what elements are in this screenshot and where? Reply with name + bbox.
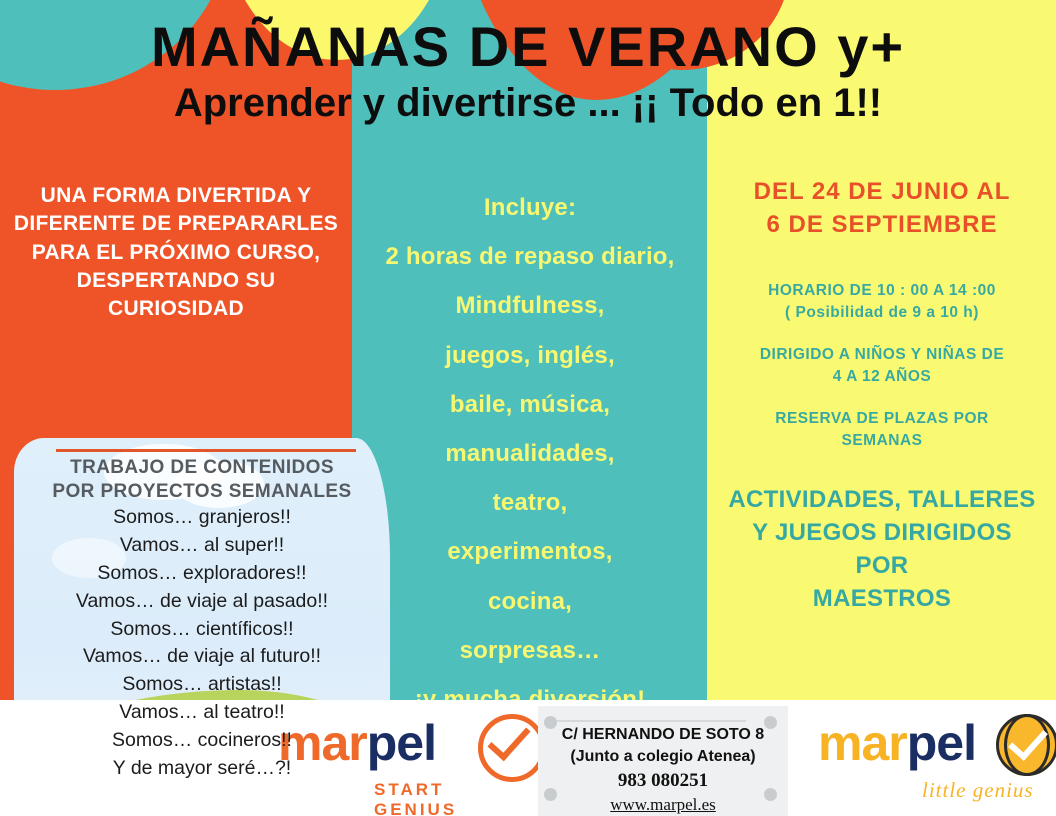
staff-line-1: ACTIVIDADES, TALLERES [712, 483, 1052, 516]
schedule-hours-line-2: ( Posibilidad de 9 a 10 h) [712, 302, 1052, 324]
schedule-booking: RESERVA DE PLAZAS POR SEMANAS [712, 408, 1052, 453]
logo-tagline: START GENIUS [374, 780, 528, 816]
list-item: cocina, [356, 577, 704, 626]
includes-heading: Incluye: [356, 183, 704, 232]
address-card: C/ HERNANDO DE SOTO 8 (Junto a colegio A… [538, 706, 788, 816]
address-near: (Junto a colegio Atenea) [538, 746, 788, 768]
staff-line-4: MAESTROS [712, 582, 1052, 615]
logo-word-pel: pel [907, 715, 976, 771]
list-item: 2 horas de repaso diario, [356, 232, 704, 281]
includes-list: Incluye: 2 horas de repaso diario, Mindf… [356, 183, 704, 724]
projects-title-line-1: TRABAJO DE CONTENIDOS [14, 456, 390, 480]
dates-heading: DEL 24 DE JUNIO AL 6 DE SEPTIEMBRE [712, 176, 1052, 241]
list-item: experimentos, [356, 527, 704, 576]
logo-word-mar: mar [818, 715, 907, 771]
schedule-hours-line-1: HORARIO DE 10 : 00 A 14 :00 [712, 280, 1052, 302]
list-item: manualidades, [356, 429, 704, 478]
schedule-booking-line-2: SEMANAS [712, 430, 1052, 452]
list-item: Somos… científicos!! [14, 616, 390, 644]
address-text: C/ HERNANDO DE SOTO 8 (Junto a colegio A… [538, 724, 788, 816]
staff-statement: ACTIVIDADES, TALLERES Y JUEGOS DIRIGIDOS… [712, 483, 1052, 615]
list-item: juegos, inglés, [356, 331, 704, 380]
schedule-ages: DIRIGIDO A NIÑOS Y NIÑAS DE 4 A 12 AÑOS [712, 344, 1052, 389]
list-item: Vamos… de viaje al futuro!! [14, 643, 390, 671]
logo-tagline: little genius [922, 778, 1034, 803]
list-item: teatro, [356, 478, 704, 527]
address-street: C/ HERNANDO DE SOTO 8 [538, 724, 788, 746]
list-item: baile, música, [356, 380, 704, 429]
staff-line-2: Y JUEGOS DIRIGIDOS [712, 516, 1052, 549]
dates-line-1: DEL 24 DE JUNIO AL [712, 176, 1052, 209]
list-item: Vamos… al super!! [14, 532, 390, 560]
schedule-ages-line-2: 4 A 12 AÑOS [712, 366, 1052, 388]
poster-canvas: MAÑANAS DE VERANO y+ Aprender y divertir… [0, 0, 1056, 816]
poster-title-block: MAÑANAS DE VERANO y+ Aprender y divertir… [0, 18, 1056, 126]
list-item: Somos… granjeros!! [14, 504, 390, 532]
dates-line-2: 6 DE SEPTIEMBRE [712, 209, 1052, 242]
list-item: Vamos… de viaje al pasado!! [14, 588, 390, 616]
projects-title-line-2: POR PROYECTOS SEMANALES [14, 480, 390, 504]
list-item: Somos… cocineros!! [14, 727, 390, 755]
address-phone: 983 080251 [538, 768, 788, 794]
list-item: sorpresas… [356, 626, 704, 675]
intro-paragraph: UNA FORMA DIVERTIDA Y DIFERENTE DE PREPA… [8, 182, 344, 324]
projects-card-title: TRABAJO DE CONTENIDOS POR PROYECTOS SEMA… [14, 456, 390, 504]
poster-title: MAÑANAS DE VERANO y+ [0, 18, 1056, 76]
schedule-booking-line-1: RESERVA DE PLAZAS POR [712, 408, 1052, 430]
schedule-details: HORARIO DE 10 : 00 A 14 :00 ( Posibilida… [712, 280, 1052, 453]
schedule-hours: HORARIO DE 10 : 00 A 14 :00 ( Posibilida… [712, 280, 1052, 325]
card-divider-rule [56, 449, 356, 452]
poster-subtitle: Aprender y divertirse ... ¡¡ Todo en 1!! [0, 80, 1056, 126]
schedule-ages-line-1: DIRIGIDO A NIÑOS Y NIÑAS DE [712, 344, 1052, 366]
list-item: Vamos… al teatro!! [14, 699, 390, 727]
address-divider-rule [556, 720, 746, 722]
list-item: Somos… artistas!! [14, 671, 390, 699]
marpel-little-genius-logo: marpel little genius [818, 718, 1048, 806]
list-item: Mindfulness, [356, 281, 704, 330]
projects-list: Somos… granjeros!! Vamos… al super!! Som… [14, 504, 390, 783]
list-item: Somos… exploradores!! [14, 560, 390, 588]
weekly-projects-card: TRABAJO DE CONTENIDOS POR PROYECTOS SEMA… [14, 438, 390, 816]
staff-line-3: POR [712, 549, 1052, 582]
list-item: Y de mayor seré…?! [14, 755, 390, 783]
address-website-link[interactable]: www.marpel.es [538, 793, 788, 816]
